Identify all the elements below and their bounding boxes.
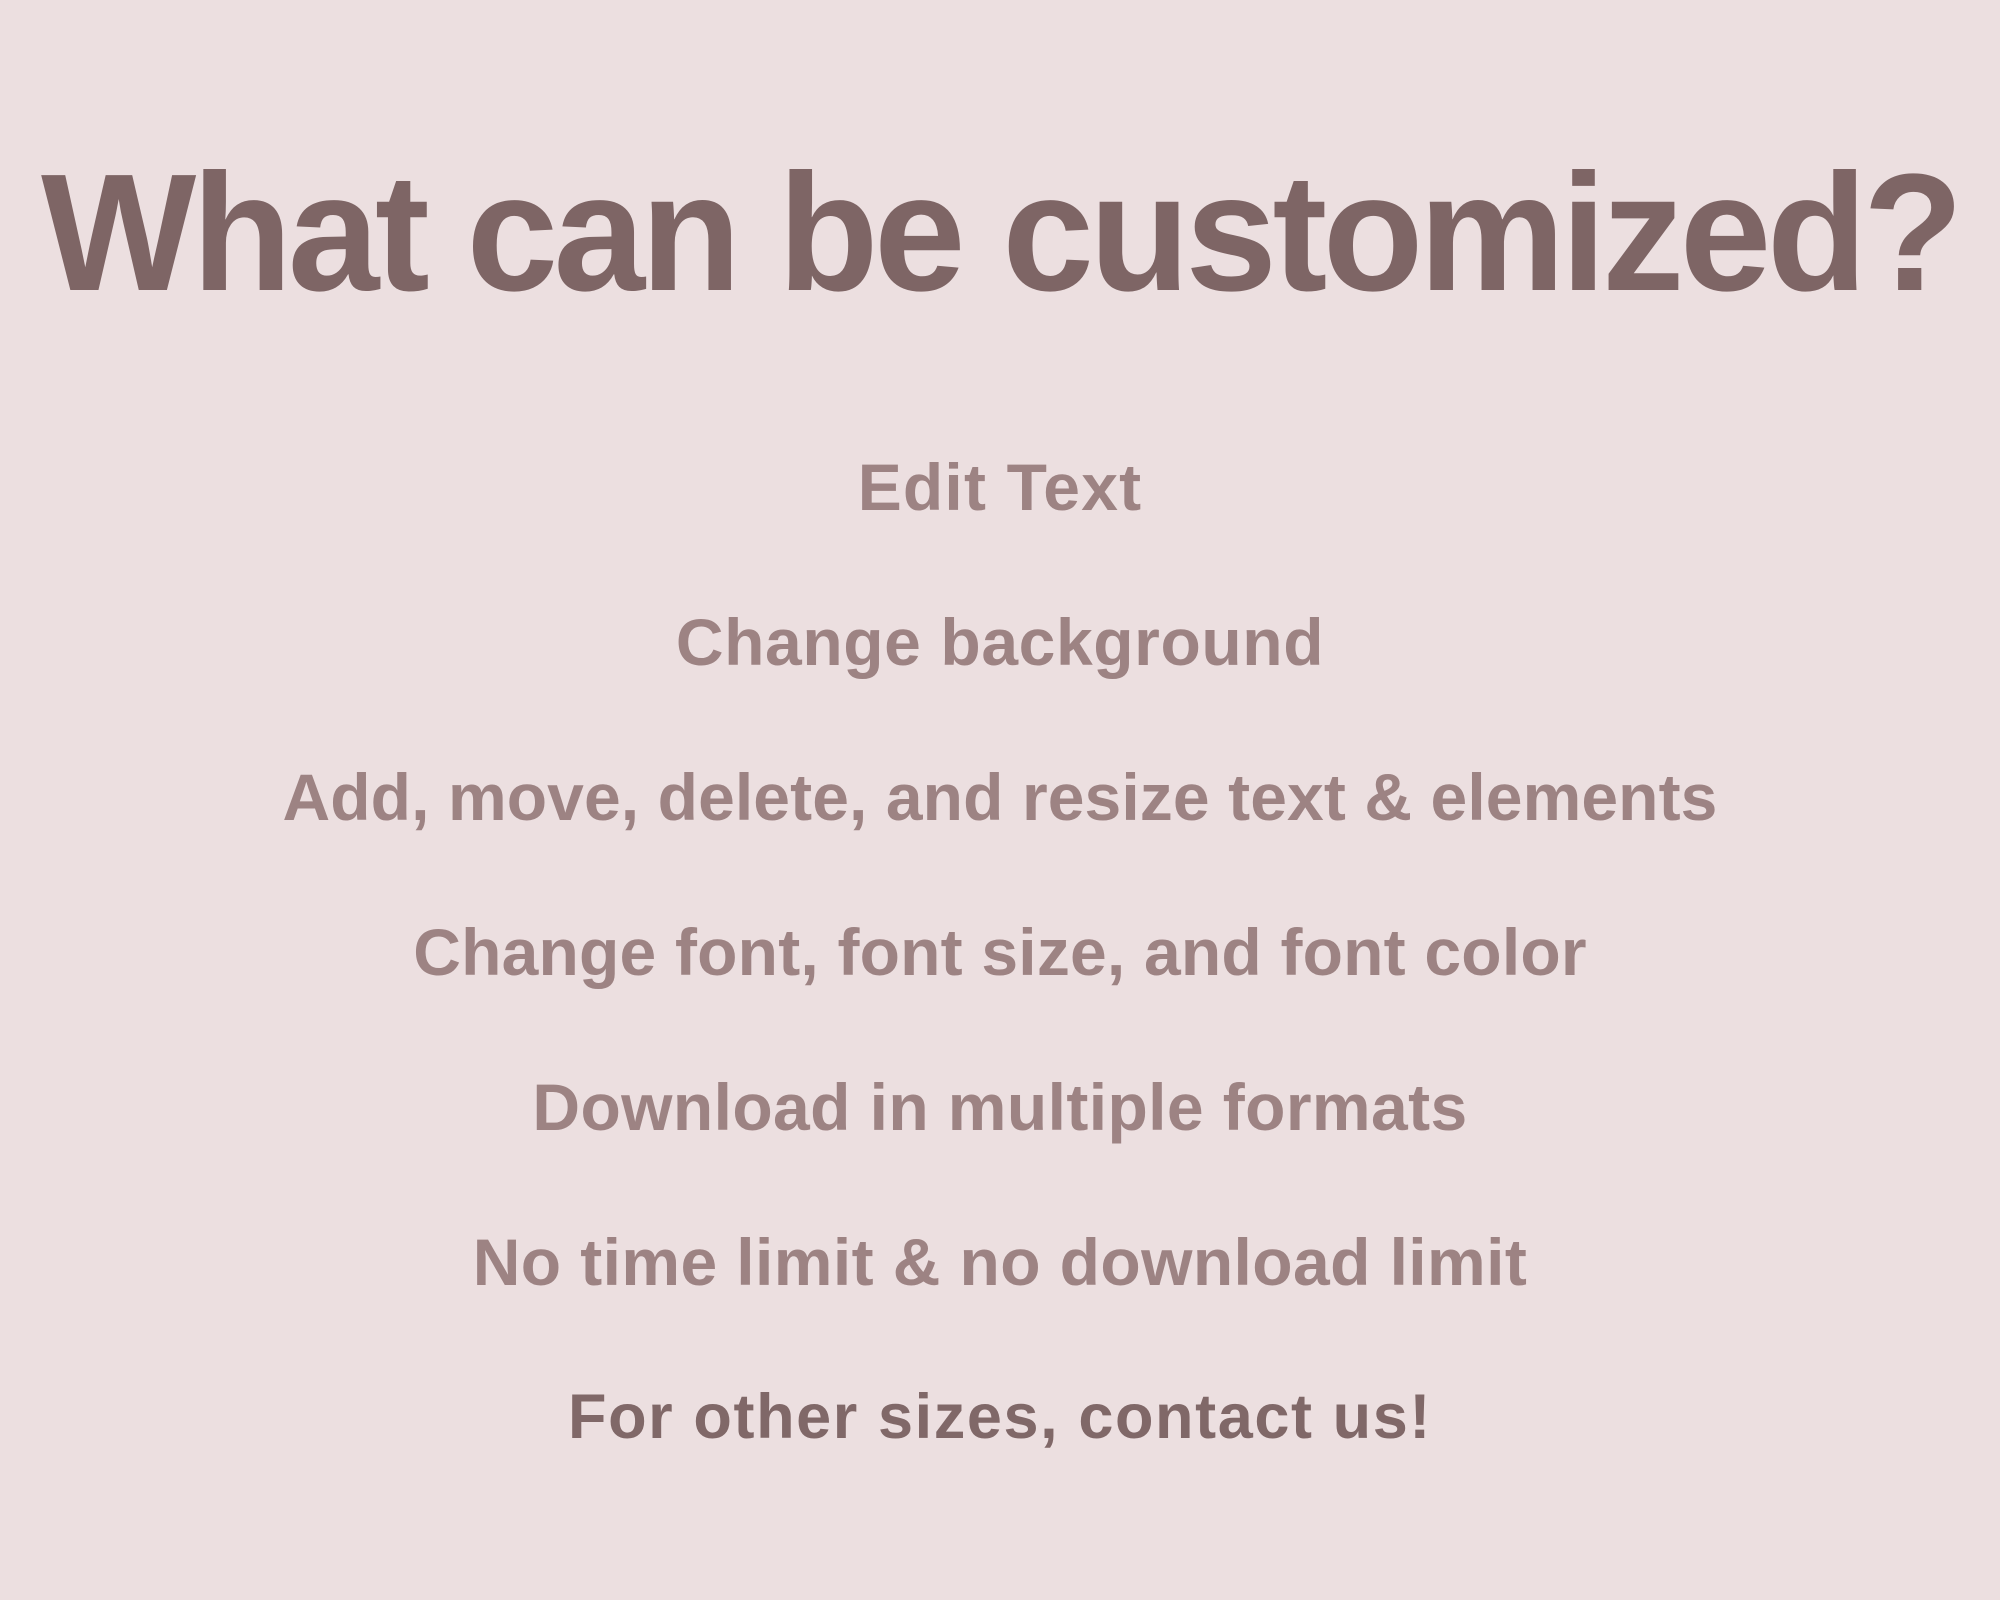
feature-label: Add, move, delete, and resize text & ele…: [283, 761, 1718, 834]
feature-label: Change background: [676, 606, 1324, 679]
list-item-edit-text: Edit Text: [0, 410, 2000, 565]
list-item-download-formats: Download in multiple formats: [0, 1030, 2000, 1185]
list-item-add-move-delete-resize: Add, move, delete, and resize text & ele…: [0, 720, 2000, 875]
page-title: What can be customized?: [15, 150, 1985, 317]
feature-label: Change font, font size, and font color: [413, 916, 1587, 989]
feature-list: Edit Text Change background Add, move, d…: [0, 410, 2000, 1495]
list-item-no-limits: No time limit & no download limit: [0, 1185, 2000, 1340]
contact-us-callout: For other sizes, contact us!: [568, 1383, 1432, 1452]
list-item-contact-us: For other sizes, contact us!: [0, 1340, 2000, 1495]
feature-label: No time limit & no download limit: [473, 1226, 1528, 1299]
page-title-container: What can be customized?: [0, 150, 2000, 317]
list-item-change-font: Change font, font size, and font color: [0, 875, 2000, 1030]
feature-label: Download in multiple formats: [532, 1071, 1467, 1144]
list-item-change-background: Change background: [0, 565, 2000, 720]
feature-label: Edit Text: [858, 451, 1143, 524]
customization-info-slide: What can be customized? Edit Text Change…: [0, 0, 2000, 1600]
